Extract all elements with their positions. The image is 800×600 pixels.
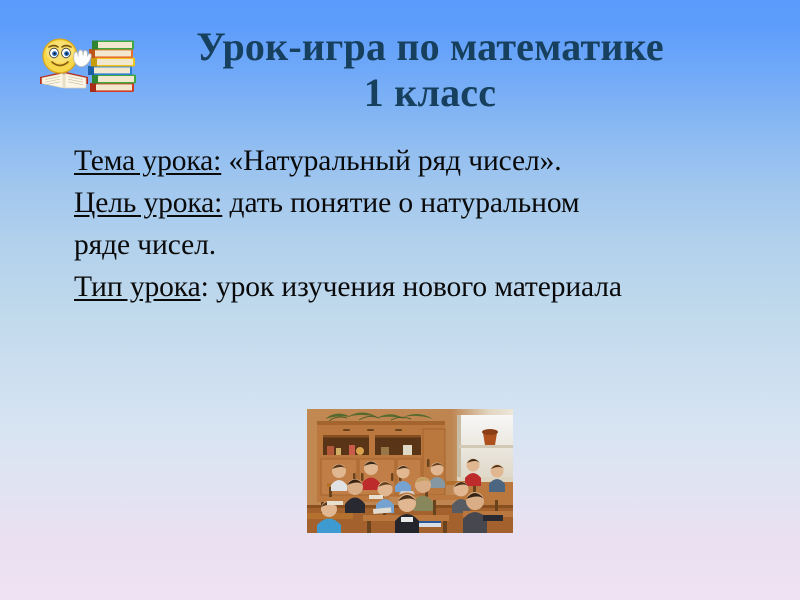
lesson-goal-line: Цель урока: дать понятие о натуральном <box>74 182 786 224</box>
title-line-2: 1 класс <box>130 70 730 116</box>
classroom-photo <box>307 409 513 533</box>
lesson-type-label: Тип урока <box>74 271 201 303</box>
lesson-topic-value: «Натуральный ряд чисел». <box>221 145 561 177</box>
lesson-type-line: Тип урока: урок изучения нового материал… <box>74 266 786 308</box>
slide-canvas: Урок-игра по математике 1 класс Тема уро… <box>0 0 800 600</box>
lesson-type-value: : урок изучения нового материала <box>201 271 622 303</box>
lesson-goal-value: дать понятие о натуральном <box>222 187 579 219</box>
open-book-icon <box>40 72 88 88</box>
lesson-topic-line: Тема урока: «Натуральный ряд чисел». <box>74 140 786 182</box>
title-line-1: Урок-игра по математике <box>130 24 730 70</box>
slide-title: Урок-игра по математике 1 класс <box>130 24 730 117</box>
book-stack-icon <box>88 41 136 93</box>
lesson-goal-line-continued: ряде чисел. <box>74 224 786 266</box>
lesson-topic-label: Тема урока: <box>74 145 221 177</box>
lesson-goal-label: Цель урока: <box>74 187 222 219</box>
lesson-details: Тема урока: «Натуральный ряд чисел». Цел… <box>74 140 786 308</box>
smiley-reading-book-icon <box>34 26 138 98</box>
raised-hand-icon <box>74 50 92 67</box>
smiley-face-icon <box>43 39 77 73</box>
